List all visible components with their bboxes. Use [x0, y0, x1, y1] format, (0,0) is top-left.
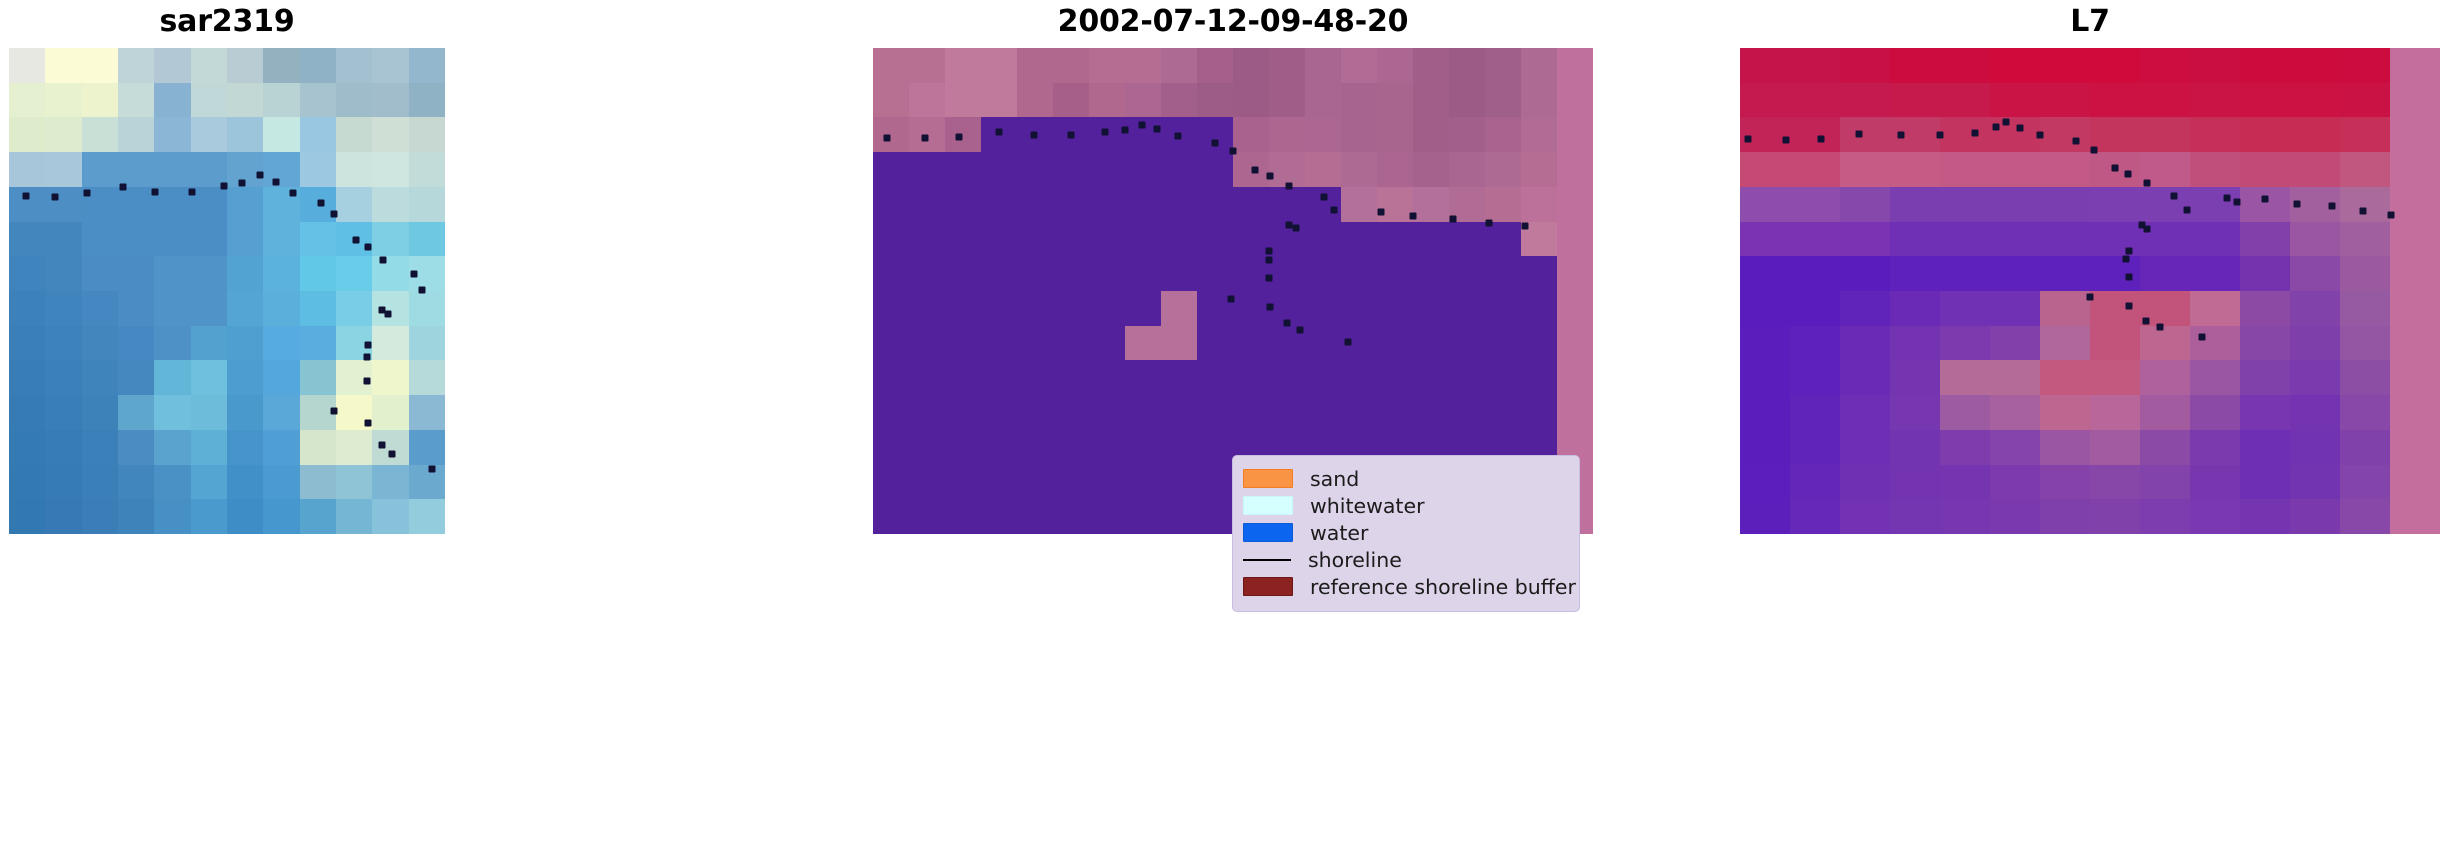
raster-cell [372, 117, 408, 152]
raster-cell [2190, 48, 2240, 83]
raster-cell [2240, 395, 2290, 430]
raster-cell [2140, 395, 2190, 430]
raster-cell [873, 430, 909, 465]
raster-cell [409, 395, 445, 430]
raster-cell [227, 187, 263, 222]
raster-cell [1790, 256, 1840, 291]
raster-cell [1790, 326, 1840, 361]
raster-cell [263, 117, 299, 152]
raster-cell [2340, 187, 2390, 222]
raster-cell [1233, 326, 1269, 361]
raster-cell [1017, 187, 1053, 222]
raster-cell [1740, 395, 1790, 430]
panel-sar-image[interactable] [9, 48, 445, 534]
raster-cell [336, 465, 372, 500]
raster-cell [82, 395, 118, 430]
raster-cell [227, 326, 263, 361]
raster-cell [336, 222, 372, 257]
raster-cell [227, 152, 263, 187]
raster-cell [1053, 430, 1089, 465]
raster-cell [1890, 360, 1940, 395]
raster-cell [336, 395, 372, 430]
raster-cell [2290, 465, 2340, 500]
raster-cell [2290, 430, 2340, 465]
raster-cell [82, 465, 118, 500]
raster-cell [2340, 499, 2390, 534]
raster-cell [909, 152, 945, 187]
raster-cell [1890, 222, 1940, 257]
raster-cell [1413, 222, 1449, 257]
raster-cell [336, 499, 372, 534]
raster-cell [82, 187, 118, 222]
raster-cell [2340, 83, 2390, 118]
raster-cell [2240, 117, 2290, 152]
raster-cell [300, 499, 336, 534]
raster-cell [300, 465, 336, 500]
raster-cell [1017, 291, 1053, 326]
raster-cell [409, 360, 445, 395]
raster-cell [300, 187, 336, 222]
raster-cell [1940, 291, 1990, 326]
raster-cell [1377, 117, 1413, 152]
raster-cell [1740, 430, 1790, 465]
raster-cell [336, 152, 372, 187]
raster-cell [1269, 395, 1305, 430]
raster-cell [263, 83, 299, 118]
raster-cell [191, 117, 227, 152]
raster-cell [1161, 430, 1197, 465]
raster-cell [300, 326, 336, 361]
raster-cell [1740, 465, 1790, 500]
raster-cell [1740, 499, 1790, 534]
raster-cell [2190, 395, 2240, 430]
raster-cell [1089, 187, 1125, 222]
raster-cell [300, 152, 336, 187]
raster-cell [9, 326, 45, 361]
legend-item-whitewater[interactable]: whitewater [1243, 492, 1567, 519]
raster-cell [263, 395, 299, 430]
raster-cell [154, 291, 190, 326]
raster-cell [2240, 326, 2290, 361]
raster-cell [1840, 291, 1890, 326]
raster-cell [9, 256, 45, 291]
raster-cell [1413, 117, 1449, 152]
raster-cell [1341, 395, 1377, 430]
raster-cell [1840, 395, 1890, 430]
raster-cell [1089, 222, 1125, 257]
raster-cell [1089, 395, 1125, 430]
raster-cell [2090, 222, 2140, 257]
raster-cell [2140, 256, 2190, 291]
raster-cell [2290, 187, 2340, 222]
raster-cell [1197, 48, 1233, 83]
raster-cell [1840, 360, 1890, 395]
raster-cell [1053, 499, 1089, 534]
raster-cell [1269, 326, 1305, 361]
raster-cell [1161, 187, 1197, 222]
raster-cell [118, 187, 154, 222]
raster-cell [300, 117, 336, 152]
raster-cell [945, 48, 981, 83]
raster-cell [2040, 222, 2090, 257]
raster-cell [1557, 360, 1593, 395]
raster-cell [1557, 326, 1593, 361]
raster-cell [1125, 187, 1161, 222]
raster-cell [1940, 395, 1990, 430]
raster-cell [1161, 465, 1197, 500]
raster-cell [945, 395, 981, 430]
raster-cell [263, 256, 299, 291]
raster-cell [1740, 256, 1790, 291]
raster-cell [1413, 395, 1449, 430]
raster-cell [409, 256, 445, 291]
raster-cell [2340, 48, 2390, 83]
raster-cell [263, 465, 299, 500]
raster-cell [1521, 256, 1557, 291]
raster-cell [873, 256, 909, 291]
raster-cell [2140, 291, 2190, 326]
raster-cell [263, 360, 299, 395]
raster-cell [2190, 187, 2240, 222]
raster-cell [1413, 83, 1449, 118]
raster-cell [873, 360, 909, 395]
raster-cell [1413, 291, 1449, 326]
raster-cell [300, 48, 336, 83]
raster-cell [873, 187, 909, 222]
raster-cell [1790, 499, 1840, 534]
raster-cell [1017, 465, 1053, 500]
raster-cell [82, 152, 118, 187]
raster-cell [2290, 326, 2340, 361]
raster-cell [1557, 222, 1593, 257]
raster-cell [2290, 291, 2340, 326]
legend-color-swatch [1243, 523, 1293, 542]
raster-cell [1521, 395, 1557, 430]
raster-cell [1017, 117, 1053, 152]
raster-cell [1990, 465, 2040, 500]
raster-cell [1413, 256, 1449, 291]
raster-cell [409, 430, 445, 465]
legend-item-water[interactable]: water [1243, 519, 1567, 546]
raster-cell [1890, 117, 1940, 152]
raster-cell [263, 152, 299, 187]
raster-cell [336, 83, 372, 118]
raster-cell [1557, 395, 1593, 430]
raster-cell [1940, 360, 1990, 395]
raster-cell [1305, 395, 1341, 430]
raster-cell [1305, 83, 1341, 118]
raster-cell [82, 291, 118, 326]
raster-cell [300, 222, 336, 257]
raster-cell [82, 48, 118, 83]
raster-cell [1053, 395, 1089, 430]
raster-cell [1017, 430, 1053, 465]
raster-cell [1449, 83, 1485, 118]
raster-cell [1161, 152, 1197, 187]
raster-cell [1521, 83, 1557, 118]
raster-cell [2340, 152, 2390, 187]
raster-cell [2240, 465, 2290, 500]
raster-cell [1790, 465, 1840, 500]
raster-cell [1840, 187, 1890, 222]
raster-cell [873, 499, 909, 534]
raster-cell [2390, 222, 2440, 257]
raster-cell [1089, 152, 1125, 187]
raster-cell [1990, 187, 2040, 222]
raster-cell [82, 117, 118, 152]
raster-cell [336, 360, 372, 395]
raster-cell [1740, 222, 1790, 257]
raster-cell [1053, 222, 1089, 257]
raster-cell [118, 48, 154, 83]
raster-cell [1449, 395, 1485, 430]
raster-cell [9, 360, 45, 395]
raster-cell [1740, 48, 1790, 83]
raster-cell [300, 291, 336, 326]
raster-cell [1377, 48, 1413, 83]
panel-title-sar: sar2319 [9, 2, 445, 42]
raster-cell [1557, 152, 1593, 187]
raster-cell [1125, 222, 1161, 257]
raster-cell [1890, 152, 1940, 187]
raster-cell [1017, 83, 1053, 118]
raster-cell [372, 83, 408, 118]
raster-cell [336, 117, 372, 152]
raster-cell [2340, 430, 2390, 465]
raster-cell [1557, 48, 1593, 83]
raster-cell [1161, 291, 1197, 326]
raster-cell [1413, 326, 1449, 361]
raster-cell [1990, 291, 2040, 326]
raster-cell [1940, 83, 1990, 118]
raster-cell [372, 395, 408, 430]
raster-cell [409, 187, 445, 222]
raster-cell [1840, 256, 1890, 291]
raster-cell [1053, 256, 1089, 291]
legend-color-swatch [1243, 496, 1293, 515]
raster-cell [1790, 83, 1840, 118]
legend-box[interactable]: sandwhitewaterwatershorelinereference sh… [1232, 455, 1580, 612]
raster-cell [154, 222, 190, 257]
raster-cell [409, 291, 445, 326]
raster-cell [300, 256, 336, 291]
raster-cell [9, 430, 45, 465]
raster-cell [1197, 256, 1233, 291]
raster-cell [1990, 360, 2040, 395]
raster-cell [227, 256, 263, 291]
raster-cell [191, 326, 227, 361]
raster-cell [118, 326, 154, 361]
raster-cell [118, 360, 154, 395]
raster-cell [1940, 152, 1990, 187]
raster-cell [1017, 395, 1053, 430]
raster-cell [2140, 117, 2190, 152]
raster-cell [372, 499, 408, 534]
raster-cell [1305, 48, 1341, 83]
raster-cell [2390, 430, 2440, 465]
raster-cell [1233, 117, 1269, 152]
raster-cell [1485, 222, 1521, 257]
raster-cell [873, 83, 909, 118]
raster-cell [1740, 187, 1790, 222]
raster-cell [1197, 291, 1233, 326]
raster-cell [45, 465, 81, 500]
raster-cell [1017, 222, 1053, 257]
raster-cell [2190, 222, 2240, 257]
raster-cell [981, 360, 1017, 395]
raster-cell [2240, 48, 2290, 83]
raster-cell [191, 291, 227, 326]
raster-cell [873, 291, 909, 326]
raster-cell [2240, 83, 2290, 118]
legend-item-shoreline[interactable]: shoreline [1243, 546, 1567, 573]
raster-cell [1053, 326, 1089, 361]
panel-l7-image[interactable] [1740, 48, 2440, 534]
raster-cell [300, 360, 336, 395]
raster-cell [1053, 152, 1089, 187]
raster-cell [1840, 326, 1890, 361]
raster-cell [191, 187, 227, 222]
raster-grid-sar [9, 48, 445, 534]
raster-cell [2390, 465, 2440, 500]
raster-cell [2340, 256, 2390, 291]
raster-cell [45, 222, 81, 257]
raster-cell [409, 152, 445, 187]
raster-cell [2040, 326, 2090, 361]
raster-cell [1233, 152, 1269, 187]
raster-cell [1125, 326, 1161, 361]
raster-cell [1890, 465, 1940, 500]
raster-cell [1197, 187, 1233, 222]
raster-cell [2240, 256, 2290, 291]
raster-cell [2190, 360, 2240, 395]
raster-cell [1125, 395, 1161, 430]
raster-cell [409, 117, 445, 152]
raster-cell [2090, 395, 2140, 430]
raster-cell [1990, 117, 2040, 152]
raster-cell [909, 326, 945, 361]
raster-cell [372, 187, 408, 222]
raster-cell [1089, 499, 1125, 534]
raster-cell [118, 430, 154, 465]
raster-cell [2390, 360, 2440, 395]
raster-cell [1089, 360, 1125, 395]
raster-cell [227, 465, 263, 500]
raster-cell [1449, 152, 1485, 187]
raster-cell [2390, 152, 2440, 187]
raster-cell [1557, 256, 1593, 291]
raster-cell [1413, 152, 1449, 187]
raster-cell [191, 395, 227, 430]
legend-item-reference[interactable]: reference shoreline buffer [1243, 573, 1567, 600]
raster-cell [981, 222, 1017, 257]
raster-cell [1485, 187, 1521, 222]
raster-cell [2190, 256, 2240, 291]
raster-cell [1557, 187, 1593, 222]
raster-cell [2390, 395, 2440, 430]
raster-cell [263, 291, 299, 326]
raster-cell [1890, 395, 1940, 430]
raster-cell [1521, 291, 1557, 326]
raster-cell [409, 326, 445, 361]
raster-cell [2090, 48, 2140, 83]
raster-cell [1557, 117, 1593, 152]
raster-cell [2340, 465, 2390, 500]
raster-cell [1233, 83, 1269, 118]
raster-cell [2390, 291, 2440, 326]
raster-cell [2040, 395, 2090, 430]
raster-cell [1940, 48, 1990, 83]
raster-cell [1840, 465, 1890, 500]
raster-cell [1197, 499, 1233, 534]
raster-cell [873, 117, 909, 152]
raster-cell [1449, 187, 1485, 222]
raster-cell [2090, 291, 2140, 326]
raster-cell [154, 152, 190, 187]
raster-cell [2390, 117, 2440, 152]
raster-cell [2390, 187, 2440, 222]
raster-cell [154, 83, 190, 118]
raster-cell [1790, 222, 1840, 257]
raster-cell [909, 360, 945, 395]
raster-cell [1341, 291, 1377, 326]
raster-cell [2040, 117, 2090, 152]
raster-cell [1940, 222, 1990, 257]
raster-cell [9, 117, 45, 152]
raster-cell [118, 256, 154, 291]
raster-cell [154, 360, 190, 395]
raster-cell [409, 83, 445, 118]
raster-cell [263, 499, 299, 534]
raster-cell [118, 222, 154, 257]
raster-cell [1125, 465, 1161, 500]
raster-cell [2190, 291, 2240, 326]
raster-cell [2290, 117, 2340, 152]
raster-cell [118, 465, 154, 500]
raster-cell [2090, 326, 2140, 361]
raster-cell [9, 83, 45, 118]
raster-cell [1449, 222, 1485, 257]
raster-cell [227, 222, 263, 257]
raster-cell [1233, 187, 1269, 222]
raster-cell [1377, 222, 1413, 257]
raster-cell [1521, 48, 1557, 83]
raster-cell [1161, 326, 1197, 361]
raster-cell [1377, 152, 1413, 187]
raster-cell [1305, 256, 1341, 291]
legend-item-sand[interactable]: sand [1243, 465, 1567, 492]
raster-cell [372, 48, 408, 83]
raster-cell [1485, 152, 1521, 187]
raster-cell [45, 499, 81, 534]
raster-cell [45, 291, 81, 326]
raster-cell [372, 326, 408, 361]
raster-cell [2240, 187, 2290, 222]
raster-cell [1017, 48, 1053, 83]
raster-cell [372, 291, 408, 326]
raster-cell [1089, 465, 1125, 500]
raster-cell [82, 222, 118, 257]
raster-cell [945, 465, 981, 500]
raster-cell [1233, 222, 1269, 257]
raster-cell [191, 48, 227, 83]
raster-cell [9, 222, 45, 257]
raster-cell [300, 430, 336, 465]
raster-cell [2040, 291, 2090, 326]
raster-cell [1377, 326, 1413, 361]
raster-cell [1840, 152, 1890, 187]
raster-cell [1449, 48, 1485, 83]
